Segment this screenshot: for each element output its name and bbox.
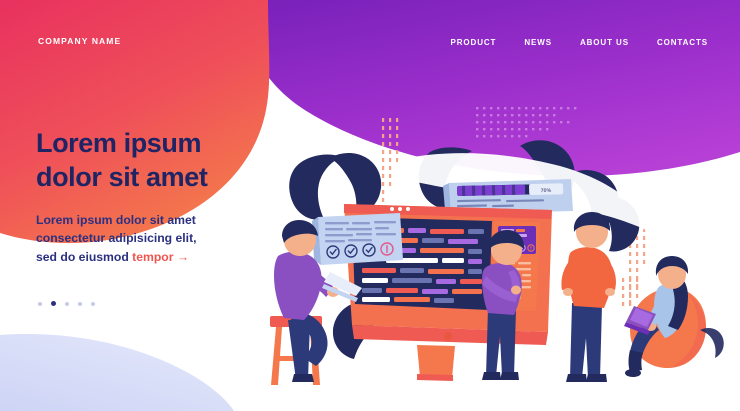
dot-grid-orange-left (382, 118, 398, 202)
character-man-hands-on-hips (561, 212, 616, 382)
man-hips-shoe-right (586, 374, 607, 382)
hero-copy: Lorem ipsum dolor sit amet Lorem ipsum d… (36, 126, 306, 266)
woman-shin (629, 350, 644, 372)
dot-grid-purple (476, 107, 576, 137)
man-hips-hand-left (563, 288, 573, 296)
hero-title-line-2: dolor sit amet (36, 160, 306, 194)
nav-item-about-us[interactable]: ABOUT US (580, 38, 629, 47)
progress-fill (457, 185, 525, 196)
monitor-power-led (444, 332, 452, 340)
hero-title-line-1: Lorem ipsum (36, 126, 306, 160)
man-monitor-shoe-right (500, 372, 519, 380)
carousel-dot-4[interactable] (78, 302, 82, 306)
hero-title: Lorem ipsum dolor sit amet (36, 126, 306, 195)
nav-item-product[interactable]: PRODUCT (450, 38, 496, 47)
window-dot-3 (406, 207, 410, 211)
carousel-dot-1[interactable] (38, 302, 42, 306)
man-monitor-shoe-left (482, 372, 501, 380)
character-woman-on-beanbag (624, 256, 706, 377)
hero-subtitle-line-3: sed do eiusmod tempor → (36, 248, 306, 267)
man-hips-torso (568, 247, 613, 308)
window-dot-2 (398, 207, 402, 211)
man-monitor-legs (486, 308, 516, 376)
woman-shoe (625, 369, 641, 377)
man-stool-leg-back (288, 320, 310, 380)
window-dot-1 (390, 207, 394, 211)
carousel-dot-2[interactable] (51, 301, 56, 306)
nav-item-news[interactable]: NEWS (524, 38, 552, 47)
carousel-dots (38, 301, 95, 306)
company-logo[interactable]: COMPANY NAME (38, 36, 121, 46)
monitor-stand-neck (417, 345, 455, 378)
main-navigation: PRODUCT NEWS ABOUT US CONTACTS (450, 38, 708, 47)
hero-subtitle-line-1: Lorem ipsum dolor sit amet (36, 211, 306, 230)
carousel-dot-5[interactable] (91, 302, 95, 306)
progress-value-label: 70% (541, 188, 552, 194)
man-stool-shoe (292, 374, 314, 382)
landing-page: COMPANY NAME PRODUCT NEWS ABOUT US CONTA… (0, 0, 740, 411)
hero-subtitle: Lorem ipsum dolor sit amet consectetur a… (36, 211, 306, 267)
man-hips-hand-right (605, 288, 615, 296)
man-monitor-hand (511, 286, 521, 295)
hero-subtitle-line-3-text: sed do eiusmod (36, 250, 129, 264)
man-hips-legs (570, 303, 602, 378)
checklist-card (312, 213, 403, 265)
carousel-dot-3[interactable] (65, 302, 69, 306)
arrow-right-icon[interactable]: → (177, 250, 189, 264)
hero-cta-link[interactable]: tempor (132, 250, 173, 264)
man-hips-shoe-left (566, 374, 587, 382)
nav-item-contacts[interactable]: CONTACTS (657, 38, 708, 47)
monitor-stand-base (417, 374, 453, 381)
hero-subtitle-line-2: consectetur adipisicing elit, (36, 229, 306, 248)
